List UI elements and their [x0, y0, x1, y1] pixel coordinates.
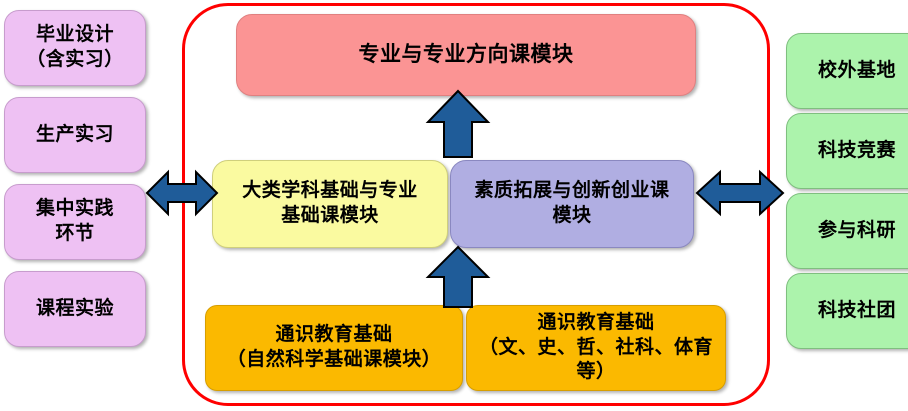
right-item-sci-tech-competition[interactable]: 科技竞赛 — [786, 113, 908, 189]
left-item-production-internship[interactable]: 生产实习 — [4, 97, 146, 173]
arrow-left-bidirectional-icon — [146, 166, 218, 220]
module-quality-development-and-innovation[interactable]: 素质拓展与创新创业课 模块 — [450, 160, 694, 248]
right-item-sci-tech-club[interactable]: 科技社团 — [786, 273, 908, 349]
diagram-canvas: 毕业设计 （含实习） 生产实习 集中实践 环节 课程实验 校外基地 科技竞赛 参… — [0, 0, 908, 411]
right-item-research-participation[interactable]: 参与科研 — [786, 193, 908, 269]
module-general-education-humanities[interactable]: 通识教育基础 （文、史、哲、社科、体育等） — [466, 305, 726, 391]
arrow-right-bidirectional-icon — [696, 166, 784, 220]
left-item-graduation-design[interactable]: 毕业设计 （含实习） — [4, 10, 146, 86]
module-discipline-and-major-foundation[interactable]: 大类学科基础与专业 基础课模块 — [212, 160, 448, 248]
module-major-and-direction-courses[interactable]: 专业与专业方向课模块 — [236, 14, 696, 96]
module-general-education-science[interactable]: 通识教育基础 （自然科学基础课模块） — [205, 305, 463, 391]
arrow-up-to-major-icon — [427, 90, 489, 158]
left-item-concentrated-practice[interactable]: 集中实践 环节 — [4, 184, 146, 260]
right-item-off-campus-base[interactable]: 校外基地 — [786, 33, 908, 109]
arrow-up-to-discipline-icon — [427, 246, 489, 308]
left-item-course-experiment[interactable]: 课程实验 — [4, 271, 146, 347]
